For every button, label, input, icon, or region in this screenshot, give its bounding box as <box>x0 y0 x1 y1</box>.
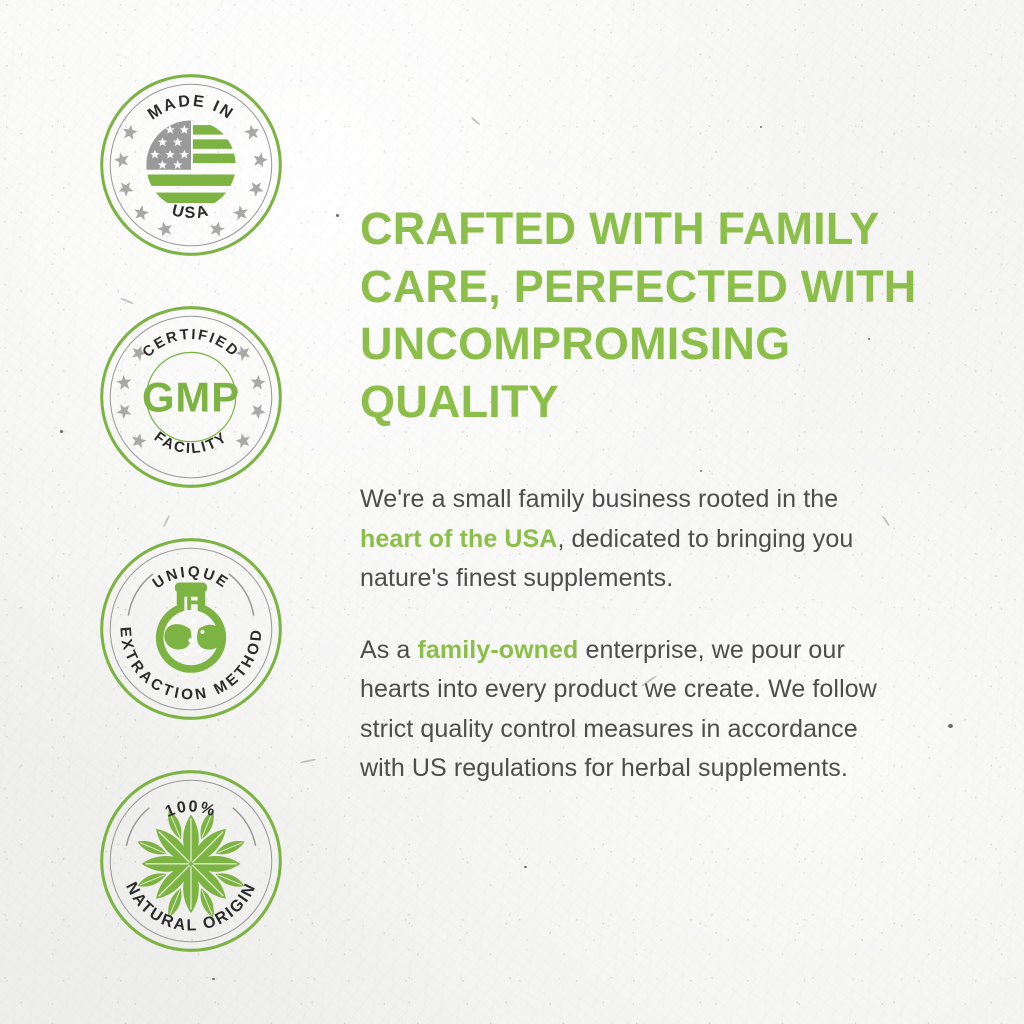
svg-text:FACILITY: FACILITY <box>151 429 231 457</box>
headline-line-2: CARE, PERFECTED WITH <box>360 261 917 312</box>
gmp-text-icon: GMP <box>142 373 240 420</box>
promo-card: MADE IN USA <box>0 0 1024 1024</box>
svg-text:USA: USA <box>170 201 212 222</box>
badge-natural-origin: 100% NATURAL ORIGIN <box>96 766 286 956</box>
badge-top-text: MADE IN <box>144 92 237 124</box>
headline-line-1: CRAFTED WITH FAMILY <box>360 203 880 254</box>
headline-line-4: QUALITY <box>360 376 559 427</box>
trust-badge-column: MADE IN USA <box>96 70 296 998</box>
paragraph-2: As a family-owned enterprise, we pour ou… <box>360 631 880 789</box>
paragraph-2-highlight: family-owned <box>417 636 578 664</box>
headline-line-3: UNCOMPROMISING <box>360 318 790 369</box>
page-title: CRAFTED WITH FAMILY CARE, PERFECTED WITH… <box>360 200 920 430</box>
paragraph-1: We're a small family business rooted in … <box>360 480 880 599</box>
body-copy: We're a small family business rooted in … <box>360 480 880 789</box>
svg-text:MADE IN: MADE IN <box>144 92 237 124</box>
badge-made-in-usa: MADE IN USA <box>96 70 286 260</box>
badge-unique-extraction-method: UNIQUE EXTRACTION METHOD <box>96 534 286 724</box>
usa-flag-circle-icon <box>146 120 250 203</box>
badge-gmp-certified-facility: GMP CERTIFIED FACILITY <box>96 302 286 492</box>
badge-top-text: CERTIFIED <box>140 327 242 361</box>
content-column: CRAFTED WITH FAMILY CARE, PERFECTED WITH… <box>360 200 940 789</box>
flask-with-leaves-icon <box>160 582 223 669</box>
paragraph-1-text-a: We're a small family business rooted in … <box>360 485 838 513</box>
paragraph-2-text-a: As a <box>360 636 417 664</box>
paragraph-1-highlight: heart of the USA <box>360 525 557 553</box>
svg-text:CERTIFIED: CERTIFIED <box>140 327 242 361</box>
badge-bottom-text: FACILITY <box>151 429 231 457</box>
badge-bottom-text: USA <box>170 201 212 222</box>
